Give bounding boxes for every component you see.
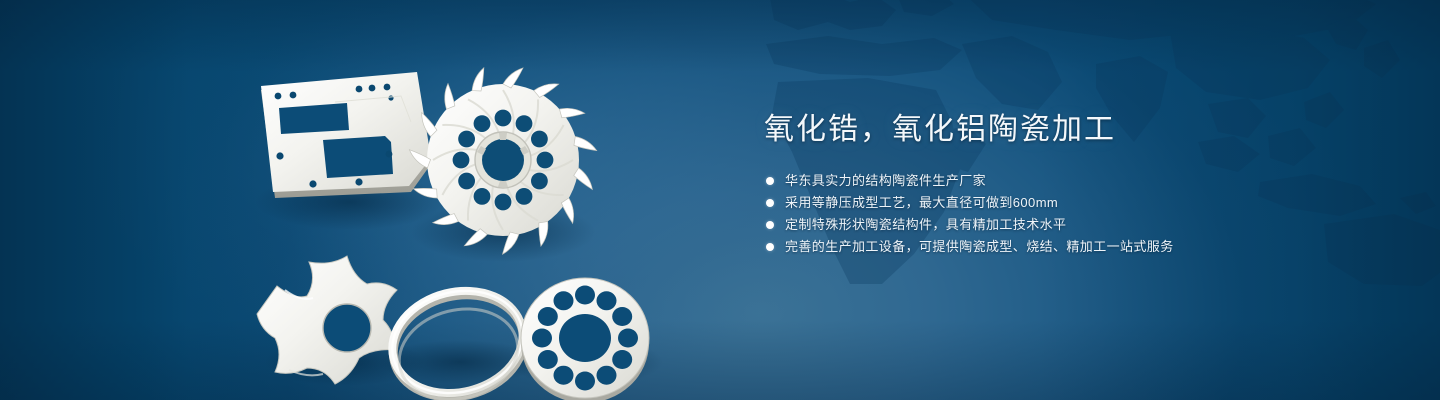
feature-list: 华东具实力的结构陶瓷件生产厂家 采用等静压成型工艺，最大直径可做到600mm 定… [766, 170, 1364, 258]
bullet-dot-icon [766, 199, 774, 207]
list-item: 定制特殊形状陶瓷结构件，具有精加工技术水平 [766, 214, 1364, 236]
bullet-dot-icon [766, 243, 774, 251]
ceramic-products-image [235, 42, 705, 382]
list-item: 完善的生产加工设备，可提供陶瓷成型、烧结、精加工一站式服务 [766, 236, 1364, 258]
feature-text: 定制特殊形状陶瓷结构件，具有精加工技术水平 [785, 214, 1066, 236]
list-item: 华东具实力的结构陶瓷件生产厂家 [766, 170, 1364, 192]
feature-text: 完善的生产加工设备，可提供陶瓷成型、烧结、精加工一站式服务 [785, 236, 1174, 258]
banner-text-block: 氧化锆，氧化铝陶瓷加工 华东具实力的结构陶瓷件生产厂家 采用等静压成型工艺，最大… [764, 112, 1364, 258]
ceramic-perforated-disc-part [521, 278, 649, 400]
list-item: 采用等静压成型工艺，最大直径可做到600mm [766, 192, 1364, 214]
bullet-dot-icon [766, 177, 774, 185]
bullet-dot-icon [766, 221, 774, 229]
feature-text: 采用等静压成型工艺，最大直径可做到600mm [785, 192, 1058, 214]
ceramic-plate-part [261, 72, 431, 198]
feature-text: 华东具实力的结构陶瓷件生产厂家 [785, 170, 986, 192]
page-title: 氧化锆，氧化铝陶瓷加工 [764, 112, 1364, 148]
promo-banner: 氧化锆，氧化铝陶瓷加工 华东具实力的结构陶瓷件生产厂家 采用等静压成型工艺，最大… [0, 0, 1440, 400]
